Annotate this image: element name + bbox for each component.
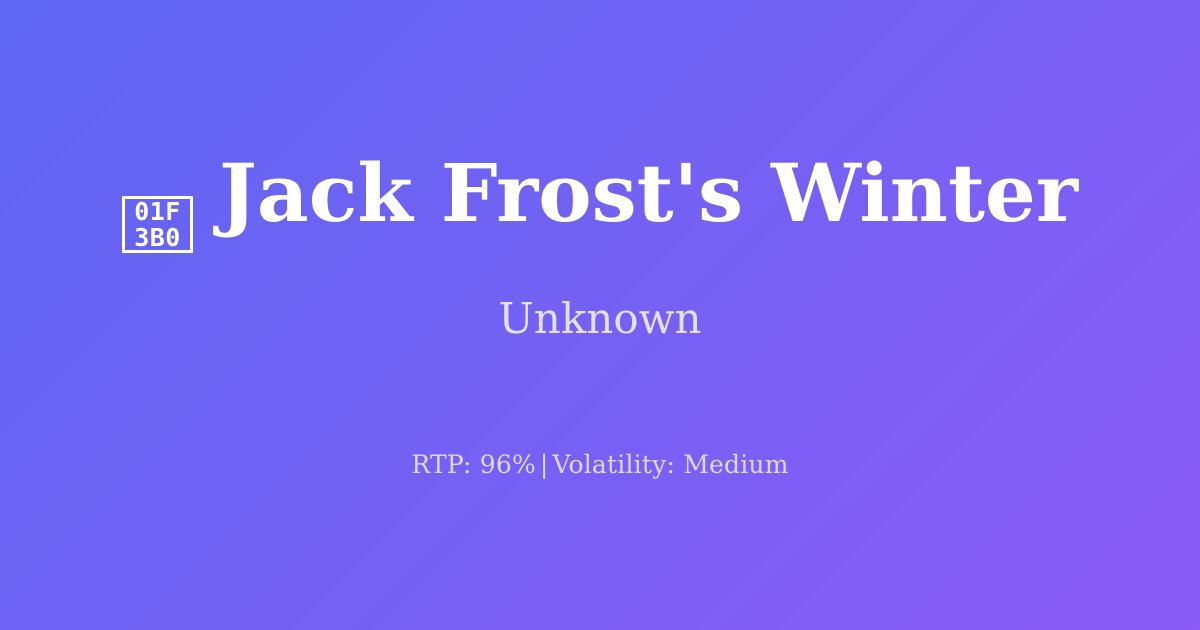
page-title: Jack Frost's Winter bbox=[219, 153, 1078, 233]
rtp-value: RTP: 96% bbox=[411, 450, 536, 479]
slot-machine-icon: 01F 3B0 bbox=[122, 196, 193, 253]
game-preview-card: 01F 3B0 Jack Frost's Winter Unknown RTP:… bbox=[0, 0, 1200, 630]
meta-separator: | bbox=[536, 450, 553, 479]
provider-label: Unknown bbox=[498, 298, 701, 340]
volatility-value: Volatility: Medium bbox=[553, 450, 789, 479]
tofu-codepoint-bottom: 3B0 bbox=[134, 225, 181, 251]
title-row: 01F 3B0 Jack Frost's Winter bbox=[122, 153, 1078, 254]
game-meta-line: RTP: 96%|Volatility: Medium bbox=[411, 452, 788, 477]
tofu-codepoint-top: 01F bbox=[134, 199, 181, 225]
